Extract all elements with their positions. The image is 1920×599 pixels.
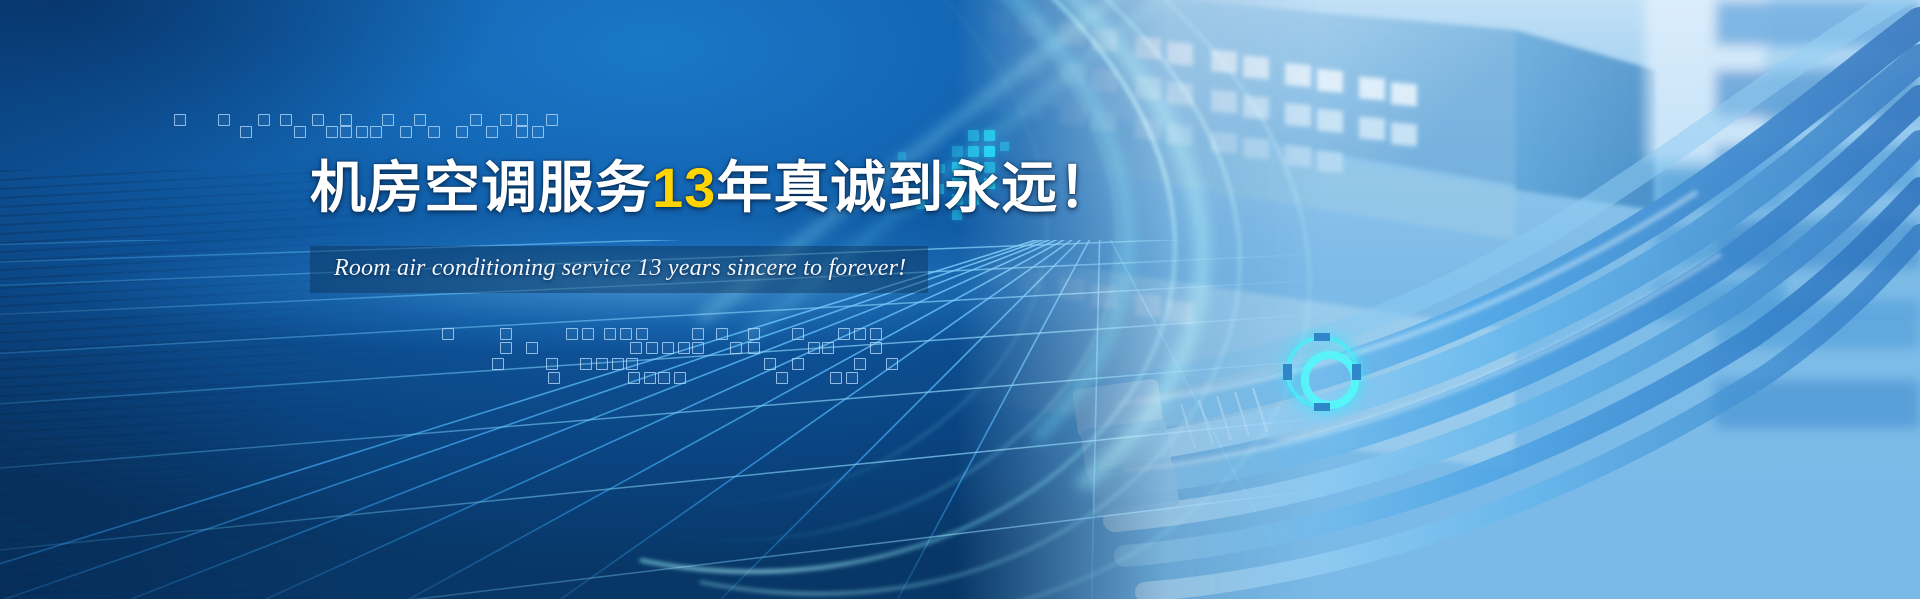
- square-dot: [340, 114, 352, 126]
- square-dot: [748, 328, 760, 340]
- banner-headline: 机房空调服务13年真诚到永远！: [310, 160, 1090, 216]
- banner-copy: 机房空调服务13年真诚到永远！ Room air conditioning se…: [310, 160, 1090, 293]
- square-dot: [730, 342, 742, 354]
- square-dot: [792, 358, 804, 370]
- square-dot: [838, 328, 850, 340]
- square-dot: [678, 342, 690, 354]
- square-dot: [294, 126, 306, 138]
- square-dot: [748, 342, 760, 354]
- square-dot: [662, 342, 674, 354]
- square-dot: [174, 114, 186, 126]
- square-dot: [646, 342, 658, 354]
- square-dot: [546, 114, 558, 126]
- square-dot: [674, 372, 686, 384]
- banner-subtitle-plate: Room air conditioning service 13 years s…: [310, 246, 928, 293]
- square-dot: [428, 126, 440, 138]
- square-dot: [626, 358, 638, 370]
- square-dot: [822, 342, 834, 354]
- light-swoosh-ribbons: [0, 0, 1920, 599]
- square-dot: [582, 328, 594, 340]
- pixel-tile: [968, 130, 979, 141]
- square-dot: [456, 126, 468, 138]
- square-dot: [658, 372, 670, 384]
- square-dot: [516, 126, 528, 138]
- square-dot-pattern-top: [160, 100, 560, 136]
- square-dot: [442, 328, 454, 340]
- pixel-tile: [1000, 142, 1009, 151]
- square-dot: [636, 328, 648, 340]
- tech-ring-icon: [1286, 336, 1358, 408]
- square-dot: [500, 114, 512, 126]
- square-dot: [644, 372, 656, 384]
- square-dot: [580, 358, 592, 370]
- square-dot: [356, 126, 368, 138]
- headline-prefix: 机房空调服务: [310, 156, 652, 219]
- square-dot: [258, 114, 270, 126]
- square-dot: [886, 358, 898, 370]
- square-dot: [400, 126, 412, 138]
- square-dot: [854, 328, 866, 340]
- square-dot: [764, 358, 776, 370]
- square-dot: [830, 372, 842, 384]
- square-dot-pattern-bottom: [430, 326, 900, 386]
- square-dot: [240, 126, 252, 138]
- square-dot: [532, 126, 544, 138]
- pixel-tile: [984, 130, 995, 141]
- square-dot: [492, 358, 504, 370]
- square-dot: [776, 372, 788, 384]
- square-dot: [280, 114, 292, 126]
- square-dot: [692, 342, 704, 354]
- square-dot: [414, 114, 426, 126]
- square-dot: [526, 342, 538, 354]
- square-dot: [218, 114, 230, 126]
- square-dot: [870, 342, 882, 354]
- banner-subtitle: Room air conditioning service 13 years s…: [334, 255, 906, 282]
- square-dot: [630, 342, 642, 354]
- square-dot: [548, 372, 560, 384]
- square-dot: [326, 126, 338, 138]
- hero-banner: 机房空调服务13年真诚到永远！ Room air conditioning se…: [0, 0, 1920, 599]
- square-dot: [546, 358, 558, 370]
- square-dot: [516, 114, 528, 126]
- square-dot: [486, 126, 498, 138]
- headline-suffix: 年真诚到永远！: [716, 156, 1115, 219]
- square-dot: [870, 328, 882, 340]
- square-dot: [628, 372, 640, 384]
- square-dot: [604, 328, 616, 340]
- square-dot: [470, 114, 482, 126]
- headline-number: 13: [652, 156, 716, 219]
- square-dot: [716, 328, 728, 340]
- square-dot: [382, 114, 394, 126]
- square-dot: [566, 328, 578, 340]
- square-dot: [808, 342, 820, 354]
- square-dot: [596, 358, 608, 370]
- square-dot: [854, 358, 866, 370]
- square-dot: [500, 342, 512, 354]
- square-dot: [612, 358, 624, 370]
- square-dot: [846, 372, 858, 384]
- square-dot: [500, 328, 512, 340]
- square-dot: [370, 126, 382, 138]
- square-dot: [620, 328, 632, 340]
- square-dot: [692, 328, 704, 340]
- square-dot: [340, 126, 352, 138]
- square-dot: [312, 114, 324, 126]
- square-dot: [792, 328, 804, 340]
